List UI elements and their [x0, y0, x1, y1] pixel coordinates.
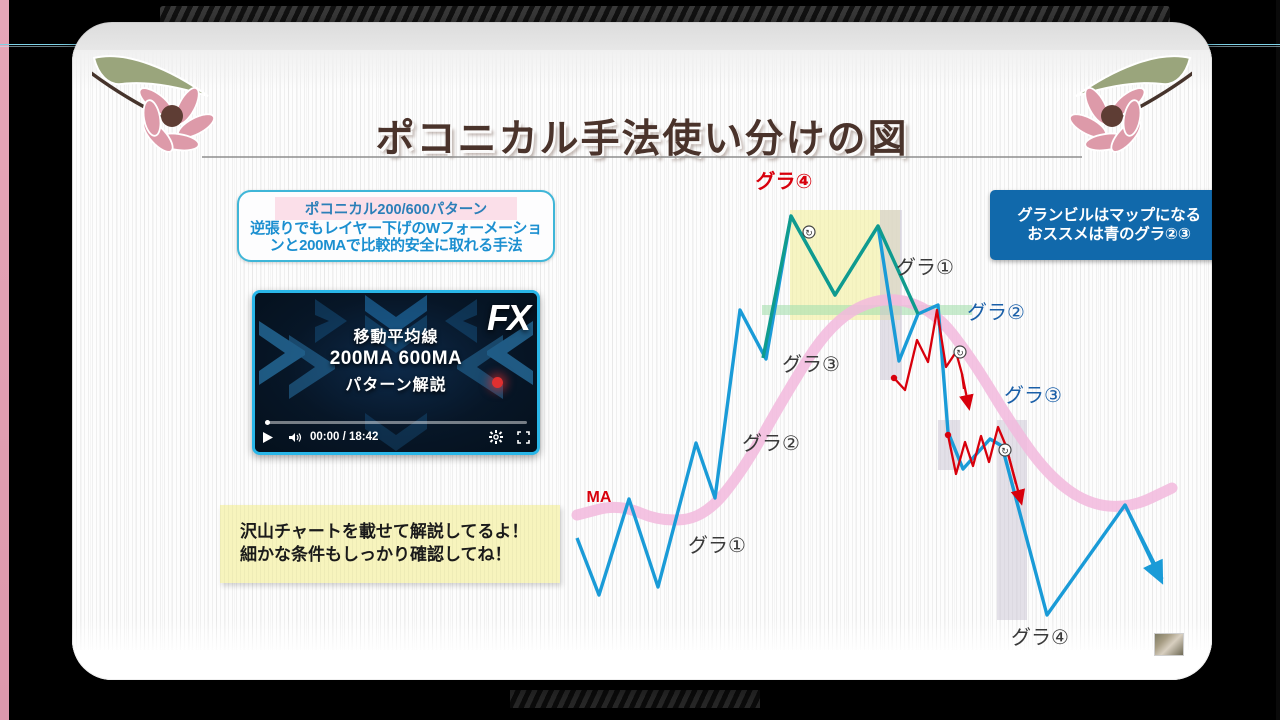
title-divider: [202, 156, 1082, 158]
chart-annotation-second-signal: グラ②: [742, 432, 800, 455]
video-controls: 00:00 / 18:42: [255, 425, 537, 449]
granville-box-line1: グランビルはマップになる: [1017, 206, 1201, 225]
pattern-box-line1: 逆張りでもレイヤー下げのWフォーメーショ: [239, 221, 553, 238]
fullscreen-icon[interactable]: [517, 431, 530, 444]
svg-text:↻: ↻: [956, 348, 964, 358]
screen: グラ④グラ①グラ②グラ③グラ②グラ①グラ③グラ④MA↻↻↻: [0, 0, 1280, 720]
video-title: 移動平均線 200MA 600MA パターン解説: [255, 323, 537, 395]
zigzag-entry-lower-start-dot: [945, 432, 951, 438]
play-icon[interactable]: [262, 431, 274, 444]
right-edge-strip: [1276, 0, 1280, 720]
gear-icon[interactable]: [489, 430, 503, 444]
photo-thumbnail: [1154, 633, 1184, 656]
cursor-marker-icon: ↻: [954, 346, 966, 358]
chart-annotation-ma-label: MA: [587, 489, 612, 506]
chart-annotation-top-reversal: グラ④: [756, 169, 813, 193]
video-title-line2: 200MA 600MA: [255, 348, 537, 370]
yellow-note-line2: 細かな条件もしっかり確認してね！: [240, 544, 560, 567]
video-progress-bar[interactable]: [265, 421, 527, 424]
chart-annotation-third-signal: グラ③: [1004, 384, 1062, 407]
video-timecode: 00:00 / 18:42: [310, 431, 378, 443]
volume-icon[interactable]: [288, 431, 303, 444]
presentation-slide: グラ④グラ①グラ②グラ③グラ②グラ①グラ③グラ④MA↻↻↻: [72, 22, 1212, 680]
video-title-line3: パターン解説: [255, 371, 537, 395]
granville-box-line2: おススメは青のグラ②③: [1027, 225, 1191, 244]
chart-annotation-bottom-reversal: グラ④: [1011, 626, 1069, 649]
cursor-marker-icon: ↻: [803, 226, 815, 238]
chart-annotation-first-signal: グラ①: [896, 256, 954, 279]
svg-text:↻: ↻: [1001, 446, 1009, 456]
video-player[interactable]: FX 移動平均線 200MA 600MA パターン解説: [252, 290, 540, 455]
yellow-note: 沢山チャートを載せて解説してるよ！ 細かな条件もしっかり確認してね！: [220, 505, 560, 583]
granville-info-box: グランビルはマップになる おススメは青のグラ②③: [990, 190, 1212, 260]
pattern-box-heading: ポコニカル200/600パターン: [275, 197, 517, 220]
svg-text:↻: ↻: [805, 228, 813, 238]
chart-annotation-third-signal: グラ③: [782, 353, 840, 376]
left-edge-strip: [0, 0, 9, 720]
zigzag-entry-upper-start-dot: [891, 375, 897, 381]
rope-texture-bottom: [510, 690, 760, 708]
chart-annotation-second-signal: グラ②: [967, 301, 1025, 324]
cursor-marker-icon: ↻: [999, 444, 1011, 456]
pattern-box-line2: ンと200MAで比較的安全に取れる手法: [239, 238, 553, 255]
chart-annotation-first-signal: グラ①: [688, 534, 746, 557]
video-title-line1: 移動平均線: [255, 323, 537, 347]
price-trend-arrow: [1125, 505, 1158, 574]
pattern-info-box: ポコニカル200/600パターン 逆張りでもレイヤー下げのWフォーメーショ ンと…: [237, 190, 555, 262]
yellow-note-line1: 沢山チャートを載せて解説してるよ！: [240, 521, 560, 544]
ma-line: [577, 300, 1172, 520]
